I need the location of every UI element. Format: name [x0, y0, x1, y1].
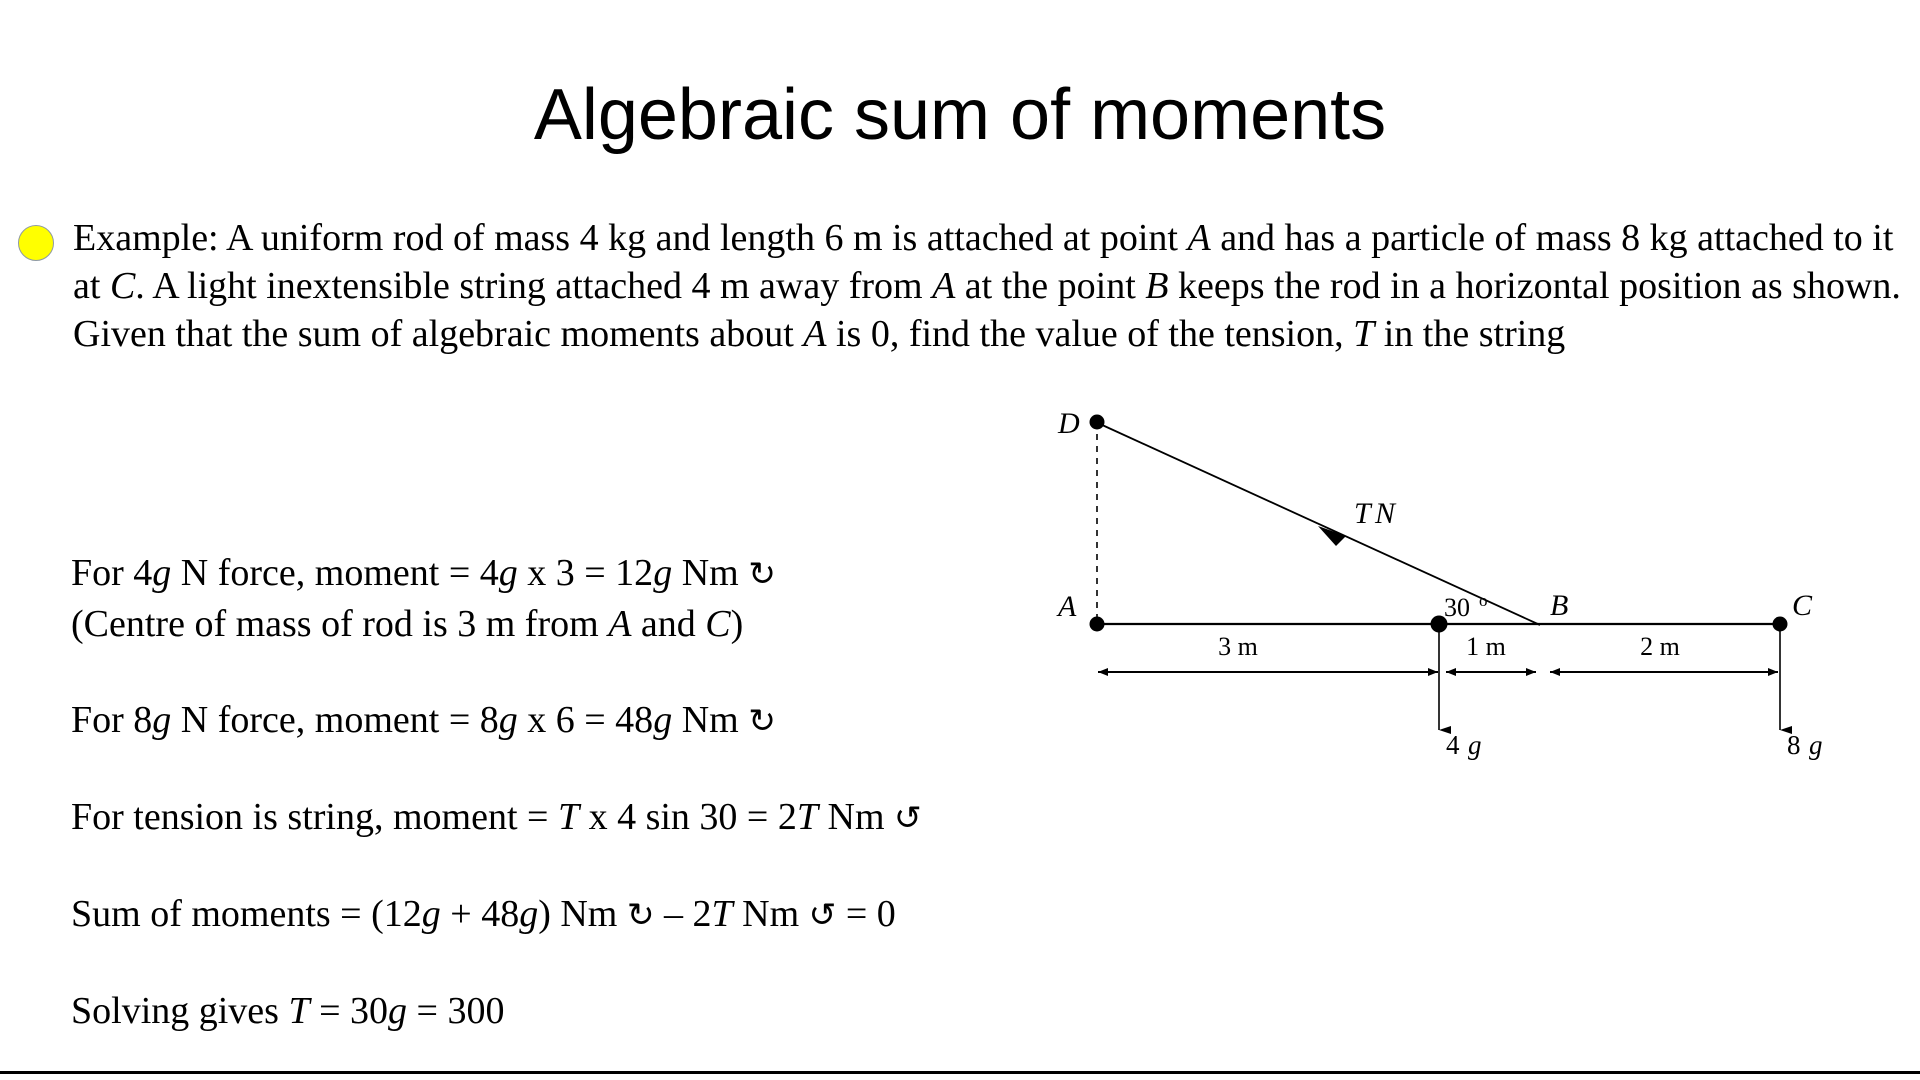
- line6-post: = 300: [407, 990, 504, 1032]
- line6-pre: Solving gives: [71, 990, 288, 1032]
- line2-a: A: [608, 603, 631, 645]
- yellow-circle-bullet-icon: [18, 225, 54, 261]
- line4-post: Nm: [818, 796, 894, 838]
- spacer: [71, 843, 1191, 889]
- working-line-solution: Solving gives T = 30g = 300: [71, 986, 1191, 1036]
- line2-mid: and: [631, 603, 705, 645]
- example-seg-5: A: [932, 265, 955, 307]
- line1-g2: g: [499, 552, 518, 594]
- force-label-8g-sym: g: [1809, 730, 1823, 760]
- working-line-sum-of-moments: Sum of moments = (12g + 48g) Nm ↻ – 2T N…: [71, 889, 1191, 940]
- line2-post: ): [731, 603, 744, 645]
- spacer: [71, 940, 1191, 986]
- string-line: [1100, 424, 1540, 625]
- example-seg-3: C: [110, 265, 135, 307]
- line1-mid2: x 3 = 12: [518, 552, 653, 594]
- rod-force-diagram: D A B C T N 30 o 3 m 1 m 2 m 4 g 8 g: [1020, 378, 1900, 778]
- line3-pre: For 8: [71, 699, 152, 741]
- clockwise-arrow-icon: ↻: [627, 895, 655, 934]
- point-label-C: C: [1792, 589, 1813, 622]
- anticlockwise-arrow-icon: ↺: [809, 895, 837, 934]
- force-label-8g-num: 8: [1787, 730, 1801, 760]
- tension-label-T: T: [1354, 497, 1373, 530]
- line4-pre: For tension is string, moment =: [71, 796, 558, 838]
- line1-post: Nm: [672, 552, 748, 594]
- example-seg-7: B: [1145, 265, 1168, 307]
- line3-g2: g: [499, 699, 518, 741]
- line5-mid: + 48: [441, 893, 519, 935]
- line1-mid: N force, moment = 4: [171, 552, 498, 594]
- line5-mid3: – 2: [655, 893, 712, 935]
- example-paragraph-text: Example: A uniform rod of mass 4 kg and …: [73, 214, 1908, 358]
- line3-g3: g: [653, 699, 672, 741]
- line5-mid4: Nm: [733, 893, 809, 935]
- line2-pre: (Centre of mass of rod is 3 m from: [71, 603, 608, 645]
- line1-g3: g: [653, 552, 672, 594]
- dimension-label-3m: 3 m: [1218, 632, 1258, 661]
- clockwise-arrow-icon: ↻: [748, 701, 776, 740]
- tension-label-N: N: [1374, 497, 1397, 530]
- point-D-dot: [1090, 415, 1105, 430]
- line5-pre: Sum of moments = (12: [71, 893, 422, 935]
- line1-g1: g: [152, 552, 171, 594]
- line4-mid: x 4 sin 30 = 2: [579, 796, 797, 838]
- page-title: Algebraic sum of moments: [0, 78, 1920, 154]
- line3-mid: N force, moment = 8: [171, 699, 498, 741]
- example-seg-1: A: [1187, 217, 1210, 259]
- line5-g2: g: [519, 893, 538, 935]
- line6-g1: g: [388, 990, 407, 1032]
- line6-t1: T: [288, 990, 309, 1032]
- point-label-B: B: [1550, 589, 1568, 622]
- anticlockwise-arrow-icon: ↺: [894, 798, 922, 837]
- line6-mid: = 30: [310, 990, 388, 1032]
- example-paragraph-block: Example: A uniform rod of mass 4 kg and …: [18, 214, 1908, 358]
- example-seg-12: in the string: [1374, 313, 1565, 355]
- line3-mid2: x 6 = 48: [518, 699, 653, 741]
- angle-value: 30: [1444, 593, 1470, 622]
- force-label-4g-sym: g: [1468, 730, 1482, 760]
- example-seg-10: is 0, find the value of the tension,: [826, 313, 1353, 355]
- line5-g1: g: [422, 893, 441, 935]
- point-label-A: A: [1056, 590, 1077, 623]
- line3-g1: g: [152, 699, 171, 741]
- line5-t1: T: [712, 893, 733, 935]
- example-seg-11: T: [1353, 313, 1374, 355]
- example-seg-0: Example: A uniform rod of mass 4 kg and …: [73, 217, 1187, 259]
- angle-degree-symbol: o: [1479, 591, 1488, 610]
- dimension-label-1m: 1 m: [1466, 632, 1506, 661]
- clockwise-arrow-icon: ↻: [748, 554, 776, 593]
- line5-post: = 0: [836, 893, 895, 935]
- line1-pre: For 4: [71, 552, 152, 594]
- line4-t2: T: [797, 796, 818, 838]
- line2-c: C: [705, 603, 730, 645]
- example-seg-6: at the point: [955, 265, 1145, 307]
- line5-mid2: ) Nm: [538, 893, 627, 935]
- point-A-dot: [1090, 617, 1105, 632]
- point-label-D: D: [1057, 407, 1080, 440]
- dimension-label-2m: 2 m: [1640, 632, 1680, 661]
- force-label-4g-num: 4: [1446, 730, 1460, 760]
- line3-post: Nm: [672, 699, 748, 741]
- line4-t1: T: [558, 796, 579, 838]
- example-seg-9: A: [803, 313, 826, 355]
- bottom-divider: [0, 1071, 1920, 1074]
- example-seg-4: . A light inextensible string attached 4…: [135, 265, 932, 307]
- working-line-tension-moment: For tension is string, moment = T x 4 si…: [71, 792, 1191, 843]
